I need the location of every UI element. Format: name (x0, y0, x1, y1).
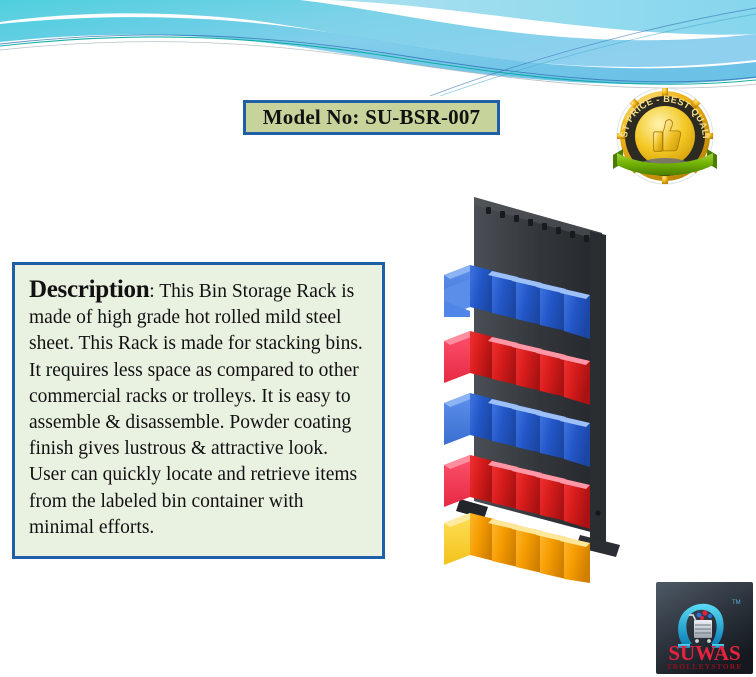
description-body: This Bin Storage Rack is made of high gr… (29, 281, 363, 538)
model-number-box: Model No: SU-BSR-007 (243, 100, 500, 135)
description-label: Description (29, 276, 149, 303)
spec-sheet-page: Model No: SU-BSR-007 Description: This B… (0, 0, 756, 677)
description-separator: : (149, 281, 159, 302)
product-image-bin-storage-rack (430, 183, 645, 583)
company-logo: TM SUWAS TROLLEYSTORE (656, 582, 753, 674)
quality-badge: BEST PRICE - BEST QUALITY (605, 83, 725, 188)
model-number-label: Model No: SU-BSR-007 (263, 105, 481, 130)
logo-tagline: TROLLEYSTORE (667, 662, 743, 671)
description-paragraph: Description: This Bin Storage Rack is ma… (29, 277, 368, 541)
wave-band-decoration (0, 0, 756, 96)
description-box: Description: This Bin Storage Rack is ma… (12, 262, 385, 559)
logo-trademark: TM (732, 600, 741, 606)
